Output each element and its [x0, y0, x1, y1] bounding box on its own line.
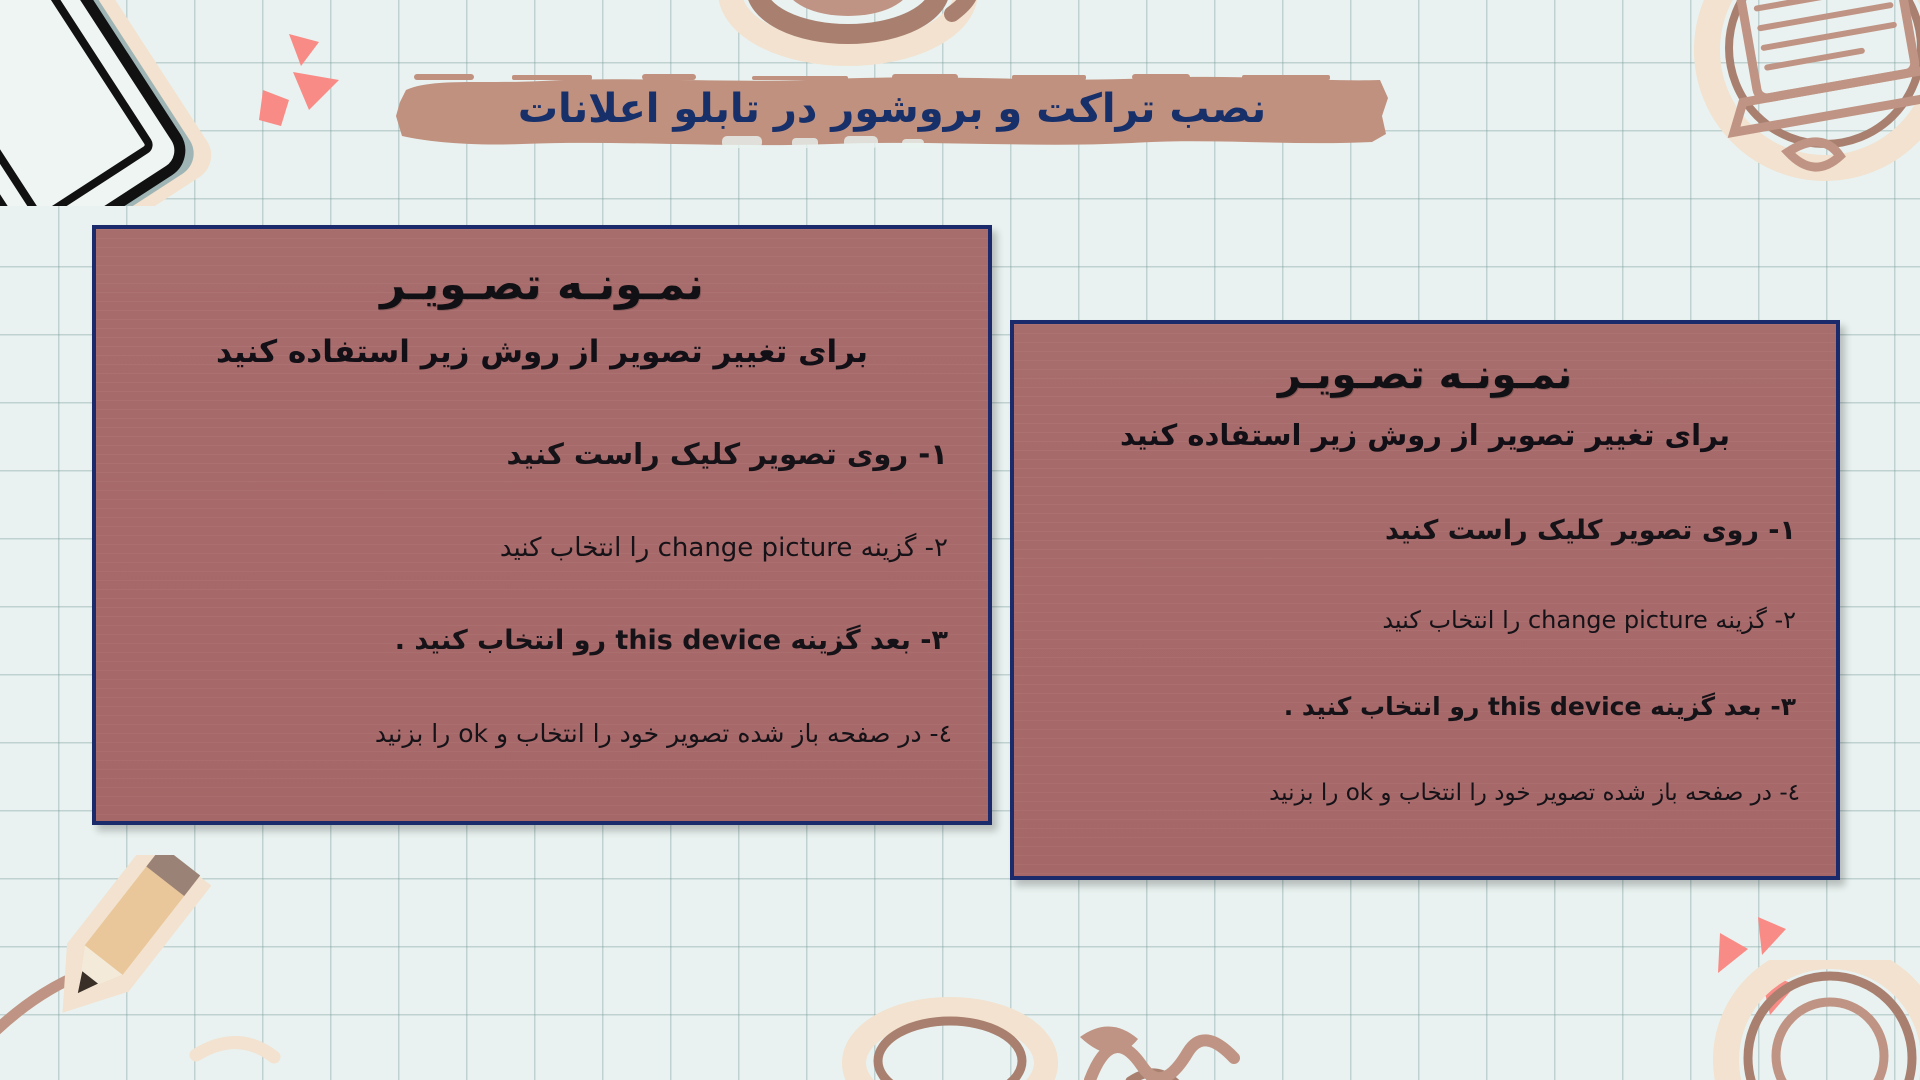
title-banner: نصب تراکت و بروشور در تابلو اعلانات [392, 72, 1392, 148]
card-heading: نمـونـه تصـویـر [126, 259, 958, 310]
card-inner: نمـونـه تصـویـر برای تغییر تصویر از روش … [1014, 324, 1836, 876]
squiggle-doodle [1080, 1010, 1260, 1080]
list-item: ۳- بعد گزینه this device رو انتخاب کنید … [126, 624, 958, 658]
list-item: ۱- روی تصویر کلیک راست کنید [1044, 514, 1806, 548]
sample-image-card-left[interactable]: نمـونـه تصـویـر برای تغییر تصویر از روش … [92, 225, 992, 825]
list-item: ۱- روی تصویر کلیک راست کنید [126, 436, 958, 472]
steps-list: ۱- روی تصویر کلیک راست کنید ۲- گزینه cha… [1044, 458, 1806, 864]
pencil-doodle [0, 855, 290, 1080]
list-item: ۳- بعد گزینه this device رو انتخاب کنید … [1044, 691, 1806, 722]
list-item: ۲- گزینه change picture را انتخاب کنید [1044, 605, 1806, 635]
list-item: ۲- گزینه change picture را انتخاب کنید [126, 532, 958, 565]
card-subtitle: برای تغییر تصویر از روش زیر استفاده کنید [126, 334, 958, 370]
sparkle-triangles-icon [1700, 915, 1805, 1025]
steps-list: ۱- روی تصویر کلیک راست کنید ۲- گزینه cha… [126, 376, 958, 809]
paper-sheet-doodle [830, 985, 1190, 1080]
circle-doodle [1700, 960, 1920, 1080]
list-item: ٤- در صفحه باز شده تصویر خود را انتخاب و… [1044, 779, 1806, 808]
list-item: ٤- در صفحه باز شده تصویر خود را انتخاب و… [126, 718, 958, 749]
sample-image-card-right[interactable]: نمـونـه تصـویـر برای تغییر تصویر از روش … [1010, 320, 1840, 880]
laptop-doodle [1630, 0, 1920, 214]
sparkle-triangles-icon [255, 28, 347, 128]
slide-canvas: نصب تراکت و بروشور در تابلو اعلانات نمـو… [0, 0, 1920, 1080]
card-inner: نمـونـه تصـویـر برای تغییر تصویر از روش … [96, 229, 988, 821]
page-title: نصب تراکت و بروشور در تابلو اعلانات [392, 72, 1392, 148]
card-subtitle: برای تغییر تصویر از روش زیر استفاده کنید [1044, 418, 1806, 452]
phone-clipboard-doodle [0, 0, 260, 206]
card-heading: نمـونـه تصـویـر [1044, 352, 1806, 398]
